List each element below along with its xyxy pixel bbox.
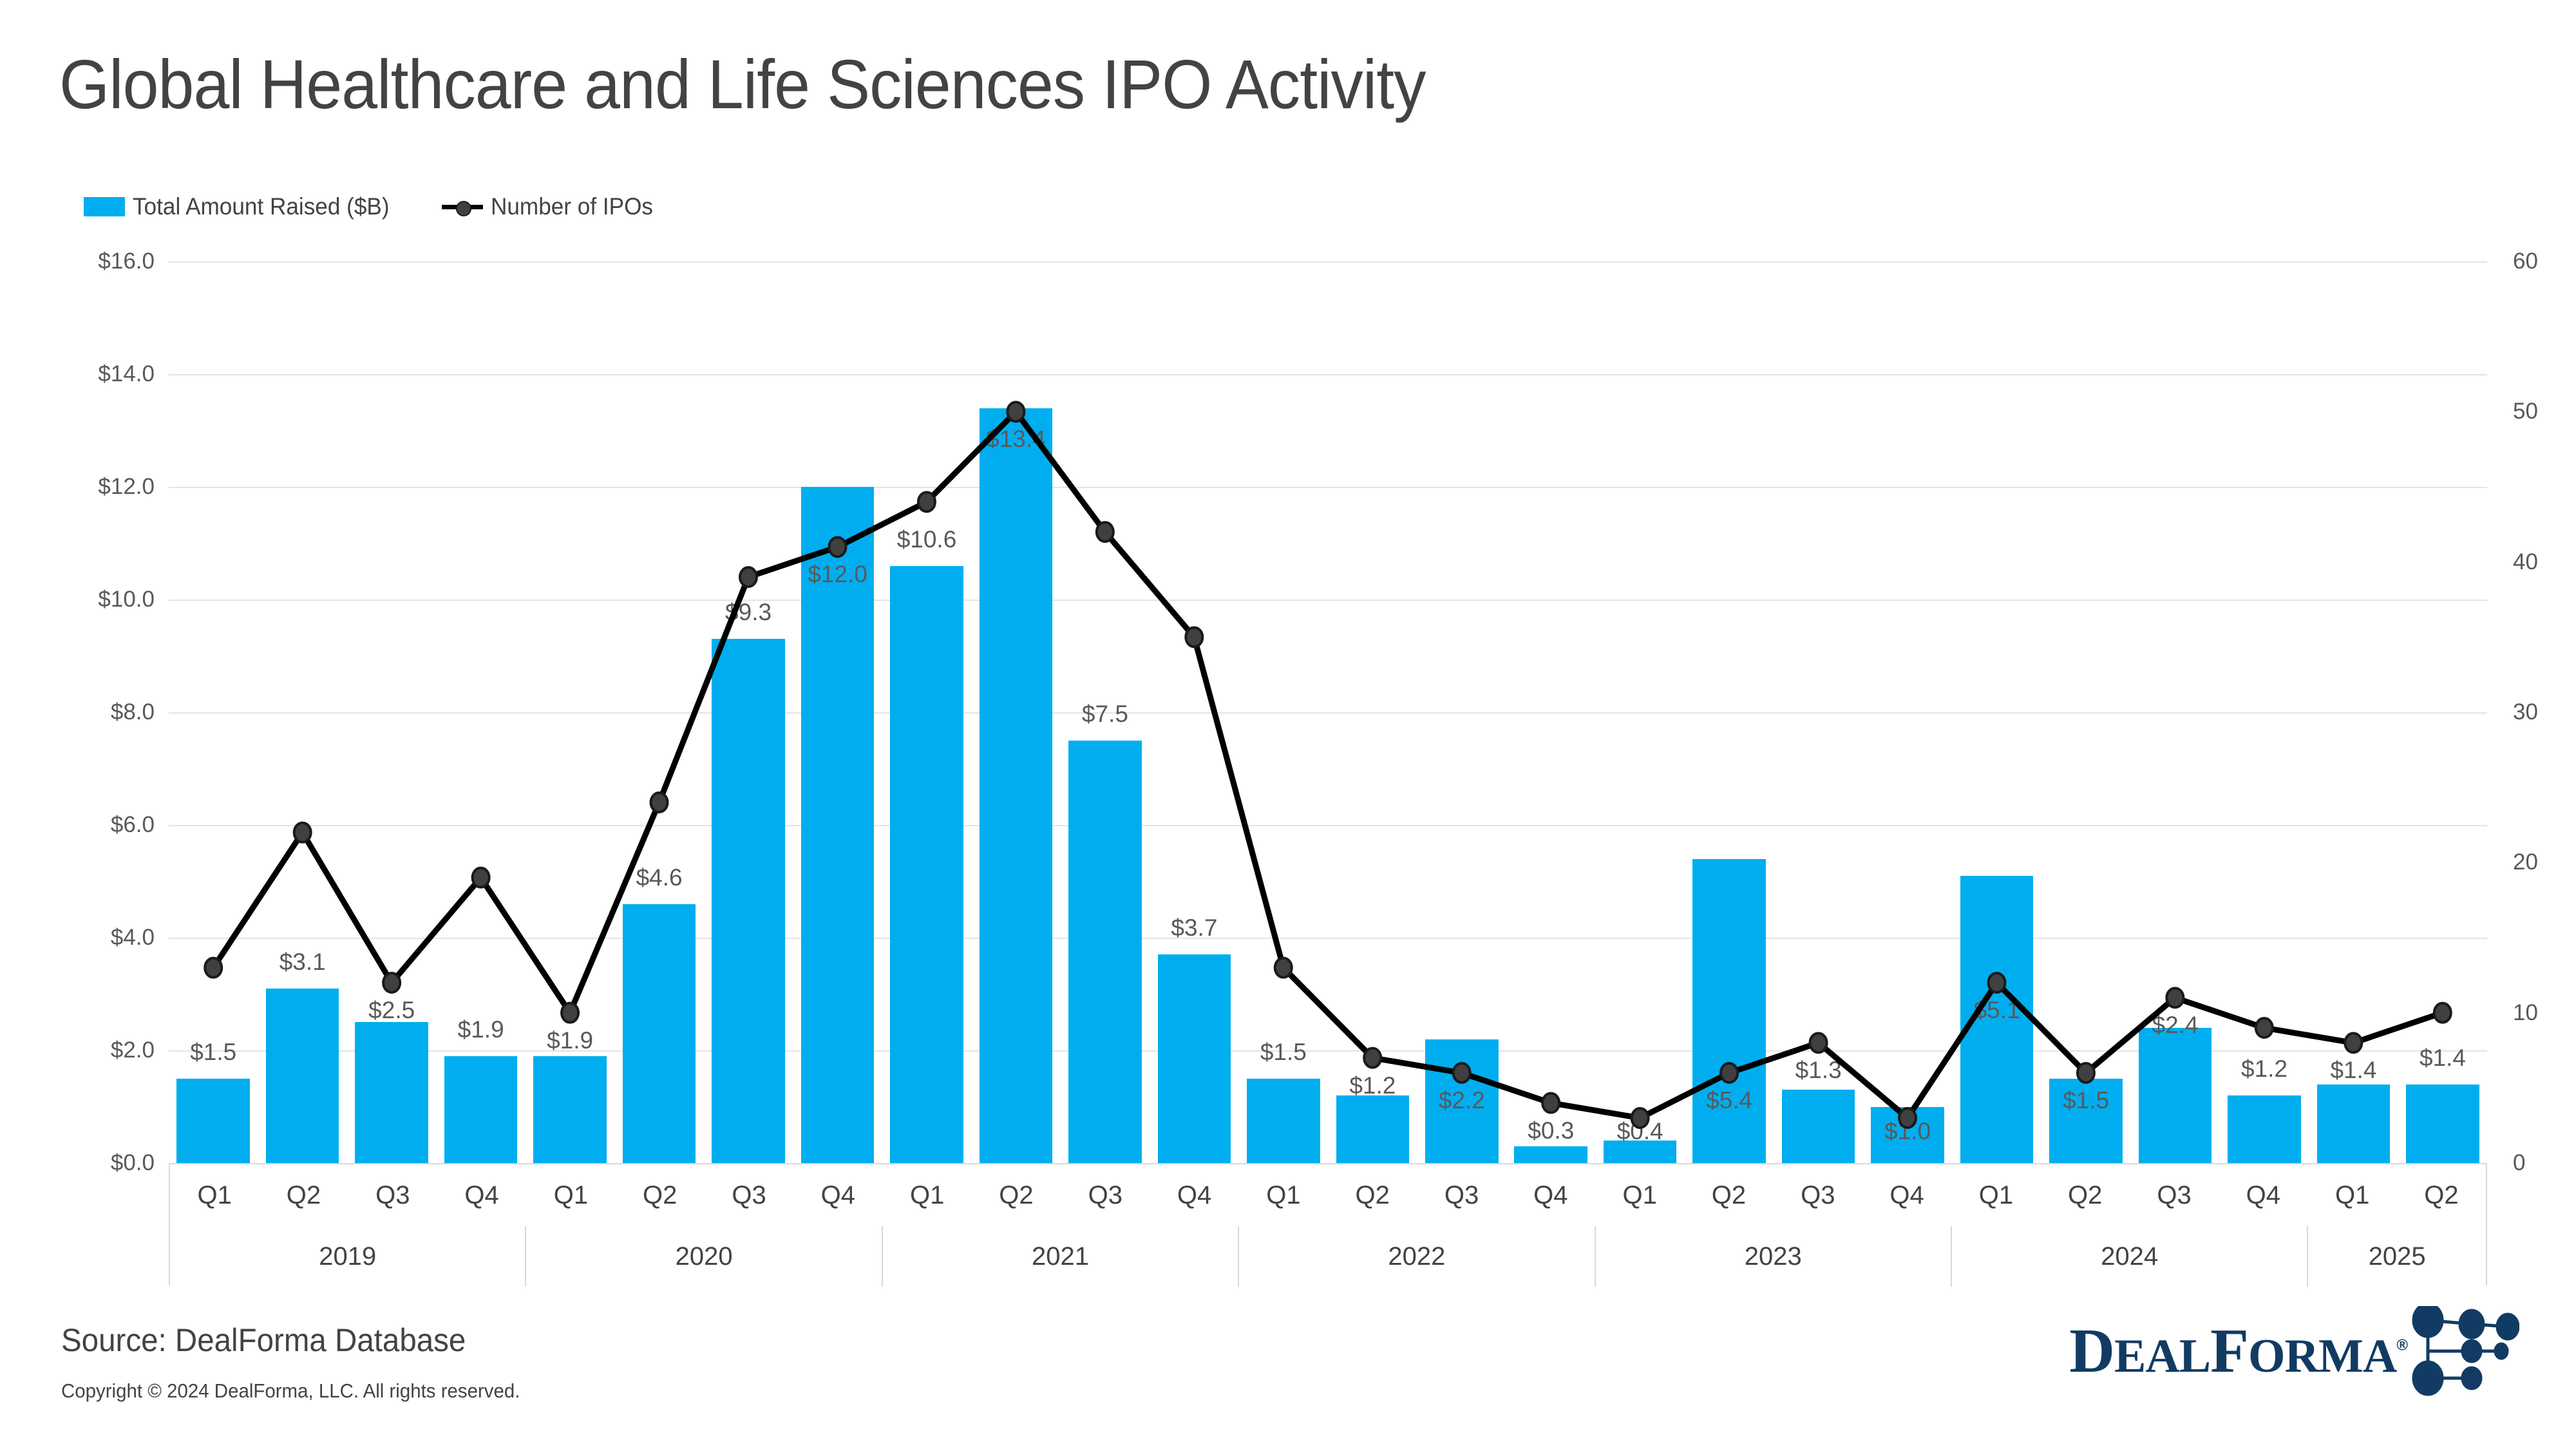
x-axis-year-label: 2021	[882, 1226, 1238, 1287]
y-axis-left-tick-label: $6.0	[111, 812, 155, 838]
x-axis-year-row: 2019202020212022202320242025	[170, 1226, 2486, 1287]
bar[interactable]	[980, 408, 1053, 1164]
source-text: Source: DealForma Database	[61, 1321, 466, 1359]
bar-value-label: $3.7	[1171, 914, 1217, 942]
x-axis-quarter-label: Q3	[1061, 1164, 1150, 1226]
bar-value-label: $7.5	[1082, 701, 1128, 728]
y-axis-right-tick-label: 30	[2513, 699, 2538, 725]
bar-value-label: $0.4	[1617, 1118, 1663, 1145]
y-axis-right-tick-label: 40	[2513, 549, 2538, 575]
x-axis-quarter-label: Q1	[1595, 1164, 1684, 1226]
y-axis-left-tick-label: $8.0	[111, 699, 155, 725]
logo-letter-d: D	[2069, 1316, 2114, 1386]
x-axis-quarter-label: Q1	[170, 1164, 259, 1226]
x-axis-year-label: 2022	[1238, 1226, 1594, 1287]
x-axis-quarter-label: Q2	[2041, 1164, 2130, 1226]
bar[interactable]	[1158, 954, 1231, 1163]
y-axis-right-tick-label: 50	[2513, 399, 2538, 424]
bar-slot: $9.3	[704, 261, 793, 1163]
bar-slot: $1.4	[2309, 261, 2398, 1163]
bar-slot: $2.5	[347, 261, 436, 1163]
bar[interactable]	[801, 487, 875, 1163]
y-axis-right-tick-label: 0	[2513, 1150, 2525, 1176]
bar-slot: $1.0	[1863, 261, 1952, 1163]
bar-slot: $1.4	[2398, 261, 2487, 1163]
y-axis-right-tick-label: 60	[2513, 249, 2538, 274]
bar[interactable]	[176, 1079, 250, 1163]
bar[interactable]	[2139, 1028, 2212, 1163]
bar-slot: $0.4	[1596, 261, 1685, 1163]
plot-area: $0.0$2.0$4.0$6.0$8.0$10.0$12.0$14.0$16.0…	[169, 261, 2487, 1163]
logo-network-icon	[2410, 1306, 2519, 1396]
x-axis-year-label: 2020	[525, 1226, 881, 1287]
bar-slot: $4.6	[614, 261, 703, 1163]
logo-wordmark: DEALFORMA®	[2069, 1315, 2407, 1387]
bar-value-label: $1.5	[1260, 1039, 1307, 1066]
bar-value-label: $10.6	[897, 526, 957, 553]
bar-slot: $1.5	[1239, 261, 1328, 1163]
bar-value-label: $9.3	[725, 599, 772, 626]
bar-value-label: $5.1	[1974, 997, 2020, 1024]
bar[interactable]	[1514, 1146, 1587, 1163]
bar[interactable]	[1692, 859, 1766, 1164]
x-axis-quarter-label: Q1	[883, 1164, 972, 1226]
bar-slot: $3.7	[1150, 261, 1238, 1163]
y-axis-left-tick-label: $2.0	[111, 1037, 155, 1063]
logo-letter-f: F	[2210, 1316, 2248, 1386]
bar-slot: $0.3	[1506, 261, 1595, 1163]
legend-line-marker-icon	[442, 197, 483, 216]
bar[interactable]	[533, 1056, 607, 1163]
bar-value-label: $1.9	[547, 1027, 593, 1054]
bar-slot: $7.5	[1061, 261, 1150, 1163]
logo-letters-eal: EAL	[2114, 1330, 2210, 1383]
bar-slot: $1.3	[1774, 261, 1862, 1163]
legend-bar-label: Total Amount Raised ($B)	[133, 193, 390, 220]
bar-slot: $1.5	[2041, 261, 2130, 1163]
bar[interactable]	[1068, 741, 1142, 1163]
y-axis-right-tick-label: 10	[2513, 1000, 2538, 1026]
bar[interactable]	[2228, 1095, 2301, 1163]
x-axis-quarter-label: Q3	[348, 1164, 437, 1226]
bar-value-label: $2.2	[1439, 1087, 1485, 1114]
bar-slot: $1.2	[2220, 261, 2309, 1163]
x-axis-year-label: 2024	[1951, 1226, 2307, 1287]
bar[interactable]	[2317, 1084, 2391, 1164]
bar-value-label: $2.5	[368, 997, 415, 1024]
y-axis-left-tick-label: $14.0	[98, 361, 155, 387]
page-title: Global Healthcare and Life Sciences IPO …	[59, 44, 1425, 124]
y-axis-left-tick-label: $12.0	[98, 474, 155, 500]
bar-value-label: $1.5	[190, 1039, 236, 1066]
x-axis-quarter-label: Q2	[1328, 1164, 1417, 1226]
bar-series: $1.5$3.1$2.5$1.9$1.9$4.6$9.3$12.0$10.6$1…	[169, 261, 2487, 1163]
bar-value-label: $1.9	[458, 1016, 504, 1043]
x-axis-quarter-label: Q3	[1774, 1164, 1862, 1226]
bar-value-label: $5.4	[1706, 1087, 1752, 1114]
y-axis-left-tick-label: $10.0	[98, 587, 155, 612]
legend-item-total-amount-raised[interactable]: Total Amount Raised ($B)	[84, 193, 403, 220]
copyright-text: Copyright © 2024 DealForma, LLC. All rig…	[61, 1379, 520, 1403]
x-axis-quarter-label: Q3	[1417, 1164, 1506, 1226]
x-axis-quarter-label: Q2	[2397, 1164, 2486, 1226]
bar[interactable]	[712, 639, 785, 1163]
logo-registered-icon: ®	[2396, 1336, 2407, 1354]
dealforma-logo: DEALFORMA®	[2069, 1306, 2519, 1396]
bar-slot: $1.9	[436, 261, 525, 1163]
bar[interactable]	[2406, 1084, 2479, 1164]
x-axis-quarter-label: Q4	[1506, 1164, 1595, 1226]
bar[interactable]	[1336, 1095, 1410, 1163]
bar-slot: $5.1	[1952, 261, 2041, 1163]
bar-slot: $2.4	[2130, 261, 2219, 1163]
bar-value-label: $1.5	[2063, 1087, 2109, 1114]
x-axis-quarter-label: Q1	[526, 1164, 615, 1226]
x-axis-quarter-label: Q4	[2219, 1164, 2307, 1226]
bar-value-label: $4.6	[636, 864, 683, 891]
x-axis-quarter-label: Q1	[1951, 1164, 2040, 1226]
bar[interactable]	[623, 904, 696, 1164]
bar-slot: $1.5	[169, 261, 258, 1163]
x-axis-quarter-label: Q3	[2130, 1164, 2219, 1226]
bar-value-label: $13.4	[986, 426, 1046, 453]
bar-slot: $10.6	[882, 261, 971, 1163]
bar[interactable]	[1247, 1079, 1320, 1163]
bar-value-label: $2.4	[2152, 1012, 2199, 1039]
y-axis-right-tick-label: 20	[2513, 849, 2538, 875]
bar-slot: $13.4	[971, 261, 1060, 1163]
bar[interactable]	[266, 989, 339, 1163]
bar-slot: $2.2	[1417, 261, 1506, 1163]
x-axis-quarter-label: Q4	[793, 1164, 882, 1226]
bar-slot: $3.1	[258, 261, 346, 1163]
y-axis-left-tick-label: $0.0	[111, 1150, 155, 1176]
bar-value-label: $3.1	[279, 949, 326, 976]
y-axis-left-tick-label: $4.0	[111, 925, 155, 951]
bar-slot: $1.9	[526, 261, 614, 1163]
bar-value-label: $1.3	[1795, 1057, 1842, 1084]
bar[interactable]	[444, 1056, 518, 1163]
bar-value-label: $1.0	[1884, 1118, 1931, 1145]
bar-value-label: $0.3	[1528, 1117, 1574, 1144]
x-axis-quarter-label: Q3	[705, 1164, 793, 1226]
x-axis-year-label: 2023	[1595, 1226, 1951, 1287]
y-axis-left-tick-label: $16.0	[98, 249, 155, 274]
bar-value-label: $1.2	[2241, 1056, 2287, 1083]
legend-bar-swatch-icon	[84, 197, 125, 216]
bar-slot: $1.2	[1328, 261, 1417, 1163]
bar-slot: $12.0	[793, 261, 882, 1163]
x-axis-quarter-label: Q4	[1862, 1164, 1951, 1226]
bar-value-label: $1.4	[2420, 1045, 2466, 1072]
chart-legend: Total Amount Raised ($B) Number of IPOs	[84, 192, 661, 222]
x-axis-year-label: 2025	[2307, 1226, 2486, 1287]
bar[interactable]	[1782, 1090, 1855, 1163]
x-axis-quarter-label: Q2	[616, 1164, 705, 1226]
bar-value-label: $12.0	[808, 561, 867, 588]
bar-slot: $5.4	[1685, 261, 1774, 1163]
x-axis-quarter-row: Q1Q2Q3Q4Q1Q2Q3Q4Q1Q2Q3Q4Q1Q2Q3Q4Q1Q2Q3Q4…	[170, 1164, 2486, 1226]
legend-line-label: Number of IPOs	[491, 193, 653, 220]
bar[interactable]	[890, 566, 963, 1164]
x-axis-quarter-label: Q4	[1150, 1164, 1238, 1226]
bar-value-label: $1.4	[2330, 1057, 2376, 1084]
bar[interactable]	[355, 1022, 428, 1163]
legend-item-number-of-ipos[interactable]: Number of IPOs	[442, 193, 661, 220]
x-axis-quarter-label: Q4	[437, 1164, 526, 1226]
x-axis-quarter-label: Q2	[972, 1164, 1061, 1226]
x-axis-quarter-label: Q1	[2308, 1164, 2397, 1226]
logo-letters-orma: ORMA	[2248, 1330, 2396, 1383]
x-axis-year-label: 2019	[170, 1226, 525, 1287]
x-axis-quarter-label: Q1	[1239, 1164, 1328, 1226]
x-axis: Q1Q2Q3Q4Q1Q2Q3Q4Q1Q2Q3Q4Q1Q2Q3Q4Q1Q2Q3Q4…	[169, 1163, 2487, 1285]
bar-value-label: $1.2	[1349, 1072, 1396, 1099]
x-axis-quarter-label: Q2	[259, 1164, 348, 1226]
x-axis-quarter-label: Q2	[1684, 1164, 1773, 1226]
